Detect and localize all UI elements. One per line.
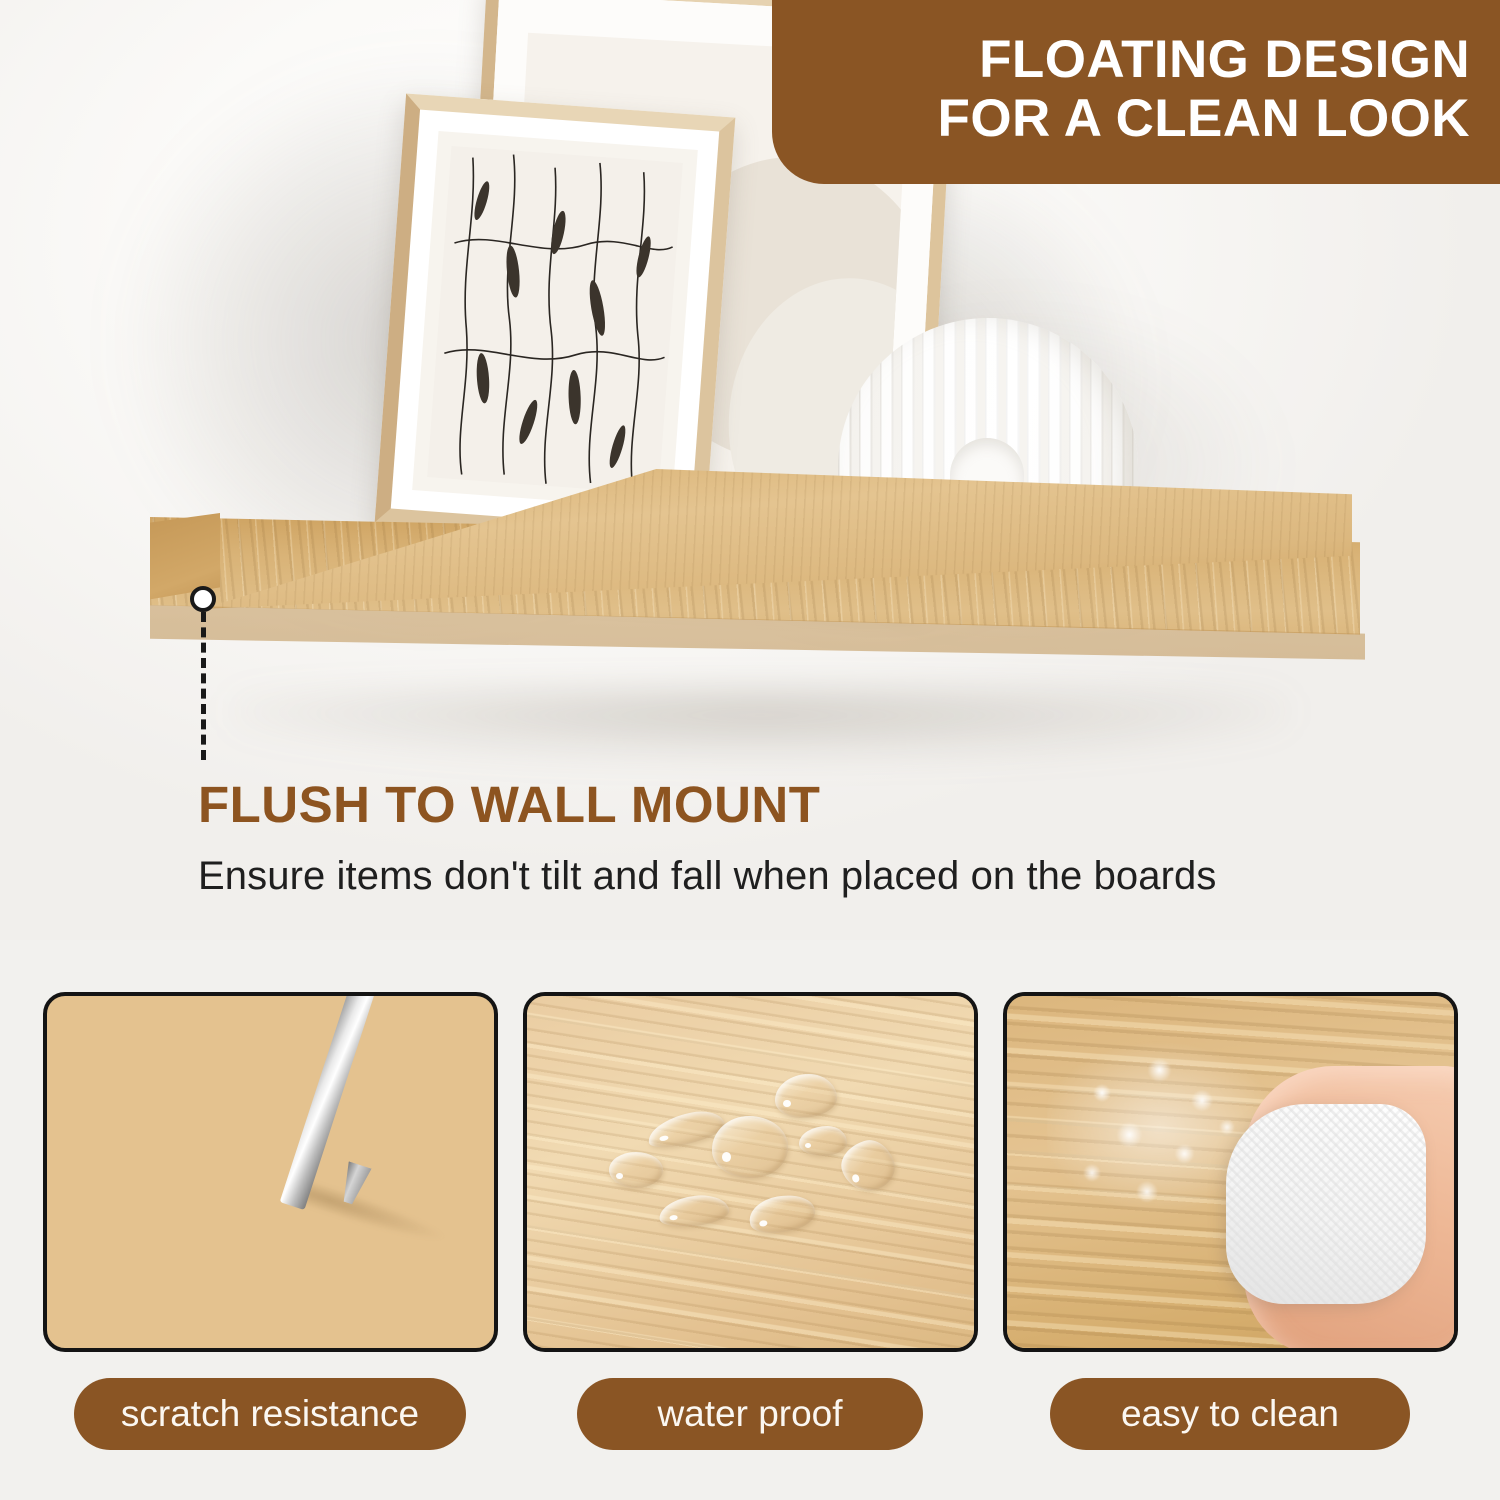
feature-card-easy-to-clean: easy to clean: [1003, 992, 1458, 1500]
banner-line-2: FOR A CLEAN LOOK: [938, 89, 1470, 148]
wood-texture: [43, 992, 498, 1352]
feature-label-scratch-resistance: scratch resistance: [74, 1378, 466, 1450]
brushstroke-svg: [427, 146, 683, 494]
brushstroke-line-artwork: [427, 146, 683, 494]
feature-card-water-proof: water proof: [523, 992, 978, 1500]
water-drop-icon: [712, 1116, 788, 1178]
feature-label-water-proof: water proof: [577, 1378, 923, 1450]
product-infographic-page: FLOATING DESIGN FOR A CLEAN LOOK FLUSH T…: [0, 0, 1500, 1500]
banner-line-1: FLOATING DESIGN: [979, 30, 1470, 89]
floating-wood-shelf: [150, 455, 1350, 755]
screwdriver-scratching-wood-photo: [43, 992, 498, 1352]
flush-mount-dot-icon: [190, 586, 216, 612]
dashed-leader-line: [201, 612, 206, 760]
feature-label-easy-to-clean: easy to clean: [1050, 1378, 1410, 1450]
hand-wiping-powder-with-cloth-photo: [1003, 992, 1458, 1352]
hero-product-scene: FLOATING DESIGN FOR A CLEAN LOOK FLUSH T…: [0, 0, 1500, 940]
feature-card-scratch-resistance: scratch resistance: [43, 992, 498, 1500]
cleaning-cloth-icon: [1226, 1104, 1426, 1304]
page-subtitle: Ensure items don't tilt and fall when pl…: [198, 854, 1428, 899]
headline-block: FLUSH TO WALL MOUNT Ensure items don't t…: [198, 778, 1428, 899]
feature-card-row: scratch resistance water proof: [0, 992, 1500, 1500]
page-title: FLUSH TO WALL MOUNT: [198, 778, 1428, 832]
water-drop-icon: [609, 1152, 663, 1188]
header-banner: FLOATING DESIGN FOR A CLEAN LOOK: [772, 0, 1500, 184]
water-droplets-on-wood-photo: [523, 992, 978, 1352]
